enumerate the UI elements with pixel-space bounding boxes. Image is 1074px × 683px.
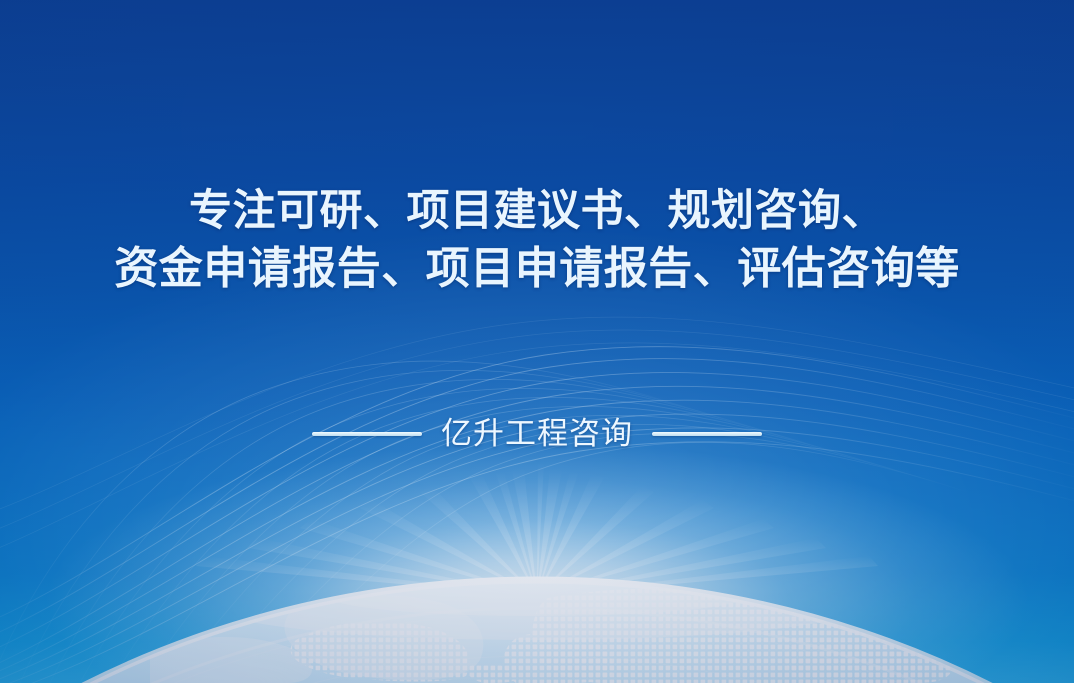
company-name: 亿升工程咨询: [441, 414, 633, 454]
banner-content: 专注可研、项目建议书、规划咨询、 资金申请报告、项目申请报告、评估咨询等 亿升工…: [0, 0, 1074, 683]
headline-line-1: 专注可研、项目建议书、规划咨询、: [0, 182, 1074, 240]
headline-line-2: 资金申请报告、项目申请报告、评估咨询等: [0, 240, 1074, 298]
decorative-rule-left-icon: [312, 432, 422, 436]
subtitle-row: 亿升工程咨询: [0, 414, 1074, 454]
headline: 专注可研、项目建议书、规划咨询、 资金申请报告、项目申请报告、评估咨询等: [0, 182, 1074, 298]
decorative-rule-right-icon: [652, 432, 762, 436]
promotional-banner: 专注可研、项目建议书、规划咨询、 资金申请报告、项目申请报告、评估咨询等 亿升工…: [0, 0, 1074, 683]
